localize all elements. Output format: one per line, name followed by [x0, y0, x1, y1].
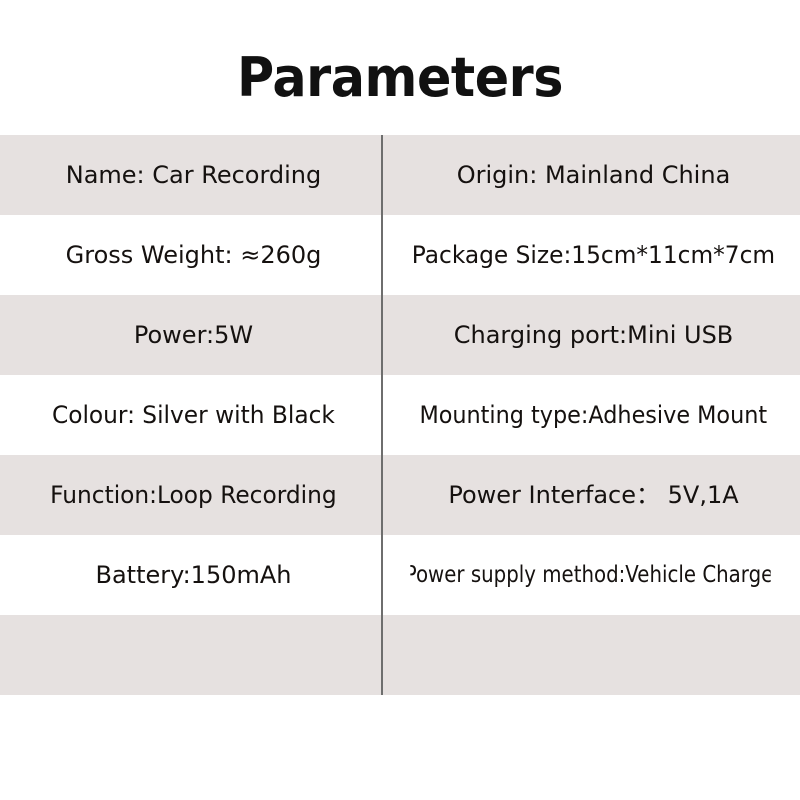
spec-cell-origin: Origin: Mainland China — [381, 135, 800, 215]
spec-cell-power: Power:5W — [0, 295, 381, 375]
table-row-empty — [0, 615, 800, 695]
table-row: Name: Car Recording Origin: Mainland Chi… — [0, 135, 800, 215]
table-row: Colour: Silver with Black Mounting type:… — [0, 375, 800, 455]
column-divider — [381, 135, 383, 695]
spec-cell-package-size: Package Size:15cm*11cm*7cm — [387, 215, 793, 295]
specifications-table: Name: Car Recording Origin: Mainland Chi… — [0, 135, 800, 695]
spec-cell-power-supply-method: Power supply method:Vehicle Charger — [410, 535, 770, 615]
page-title: Parameters — [24, 48, 776, 108]
parameters-page: Parameters Name: Car Recording Origin: M… — [0, 0, 800, 800]
spec-cell-empty-right — [381, 615, 800, 695]
table-row: Function:Loop Recording Power Interface：… — [0, 455, 800, 535]
spec-cell-name: Name: Car Recording — [0, 135, 381, 215]
spec-cell-power-interface: Power Interface： 5V,1A — [381, 455, 800, 535]
spec-cell-function: Function:Loop Recording — [6, 455, 376, 535]
table-row: Gross Weight: ≈260g Package Size:15cm*11… — [0, 215, 800, 295]
table-row: Power:5W Charging port:Mini USB — [0, 295, 800, 375]
spec-cell-mounting-type: Mounting type:Adhesive Mount — [396, 375, 786, 455]
spec-cell-battery: Battery:150mAh — [0, 535, 381, 615]
spec-cell-empty-left — [0, 615, 381, 695]
spec-cell-charging-port: Charging port:Mini USB — [381, 295, 800, 375]
spec-cell-gross-weight: Gross Weight: ≈260g — [0, 215, 381, 295]
table-row: Battery:150mAh Power supply method:Vehic… — [0, 535, 800, 615]
spec-cell-colour: Colour: Silver with Black — [6, 375, 376, 455]
